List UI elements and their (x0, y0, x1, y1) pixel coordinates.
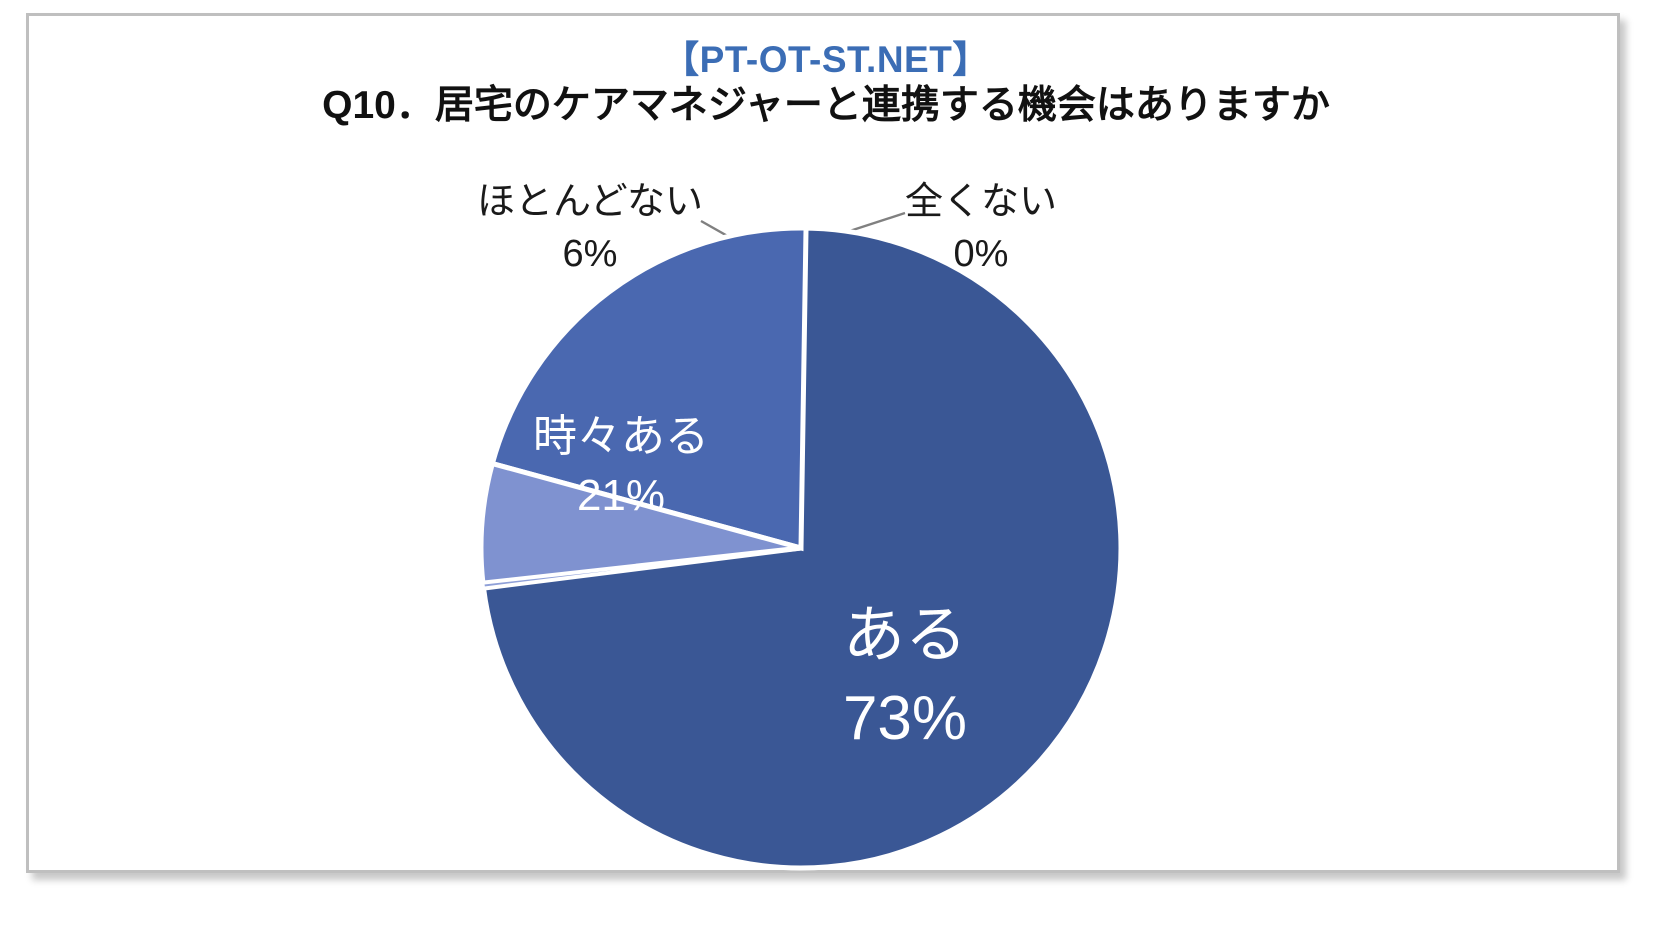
pie-chart-plot-area: ほとんどない 6% 全くない 0% ある 73% 時々ある 21% (29, 16, 1623, 876)
pie-label-aru: ある 73% (755, 594, 1055, 760)
pie-label-hotondo-name: ほとんどない (477, 181, 703, 223)
pie-slices (481, 228, 1121, 868)
slide-canvas: 【PT-OT-ST.NET】 Q10．居宅のケアマネジャーと連携する機会はありま… (0, 0, 1658, 948)
pie-label-mattaku: 全くない 0% (881, 176, 1081, 281)
pie-label-aru-value: 73% (755, 677, 1055, 760)
pie-label-hotondo-value: 6% (455, 228, 725, 280)
pie-label-tokidoki: 時々ある 21% (481, 408, 761, 526)
pie-label-hotondo: ほとんどない 6% (455, 176, 725, 281)
pie-label-mattaku-value: 0% (881, 228, 1081, 280)
pie-label-mattaku-name: 全くない (905, 181, 1057, 223)
pie-label-tokidoki-value: 21% (481, 467, 761, 526)
pie-label-tokidoki-name: 時々ある (533, 412, 709, 461)
chart-card: 【PT-OT-ST.NET】 Q10．居宅のケアマネジャーと連携する機会はありま… (26, 13, 1620, 873)
pie-label-aru-name: ある (843, 601, 967, 670)
